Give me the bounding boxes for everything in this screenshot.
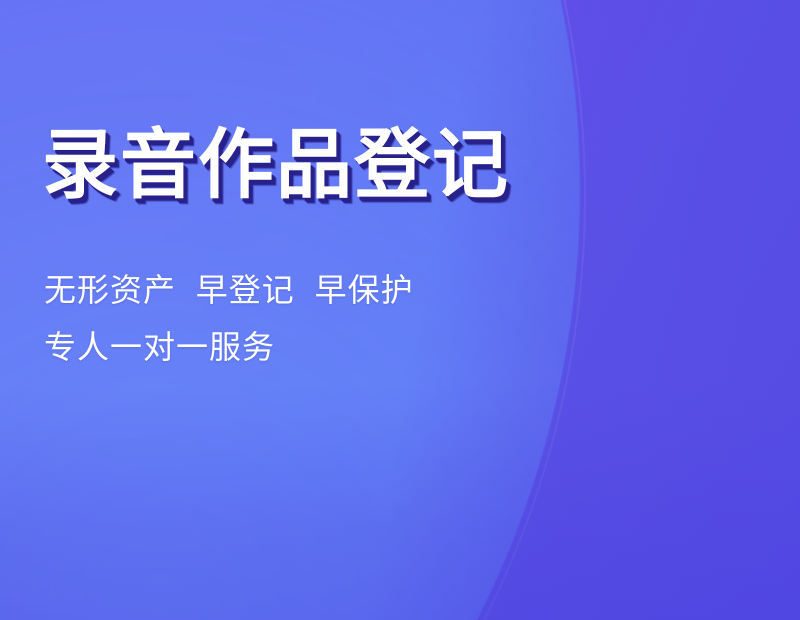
- banner-content: 录音作品登记 无形资产 早登记 早保护 专人一对一服务: [42, 0, 742, 620]
- banner-subtitle-line-2: 专人一对一服务: [44, 319, 414, 376]
- banner-subtitle-list: 无形资产 早登记 早保护 专人一对一服务: [44, 262, 414, 376]
- banner-subtitle-line-1: 无形资产 早登记 早保护: [44, 262, 414, 319]
- promo-banner: 录音作品登记 无形资产 早登记 早保护 专人一对一服务: [0, 0, 800, 620]
- banner-title: 录音作品登记: [42, 128, 510, 204]
